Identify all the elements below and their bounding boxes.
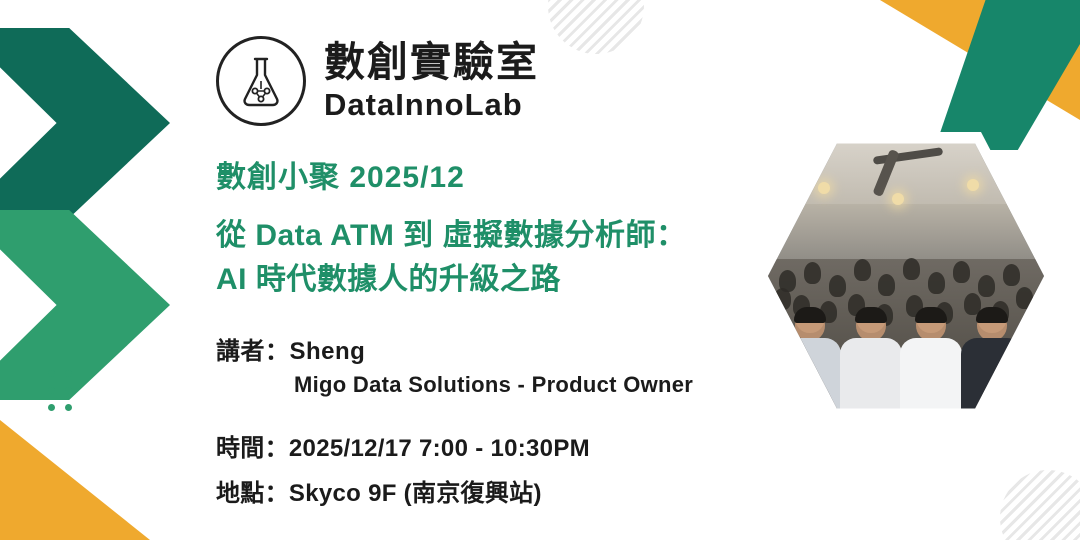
dot-grid-decoration xyxy=(48,370,74,412)
striped-circle-top xyxy=(548,0,644,54)
event-title-line2: AI 時代數據人的升級之路 xyxy=(216,258,816,302)
event-meta: 時間：2025/12/17 7:00 - 10:30PM 地點：Skyco 9F… xyxy=(216,428,816,508)
event-title-line1: 從 Data ATM 到 虛擬數據分析師： xyxy=(216,214,816,258)
brand-logo: 數創實驗室 DataInnoLab xyxy=(216,36,539,126)
pendant-lamp-icon xyxy=(818,182,830,194)
flask-icon xyxy=(216,36,306,126)
brand-text: 數創實驗室 DataInnoLab xyxy=(324,42,539,120)
event-series: 數創小聚 2025/12 xyxy=(216,152,816,196)
brand-name-en: DataInnoLab xyxy=(324,89,539,120)
person-figure xyxy=(900,309,962,414)
speaker-info: 講者：Sheng Migo Data Solutions - Product O… xyxy=(216,331,816,398)
event-details: 數創小聚 2025/12 從 Data ATM 到 虛擬數據分析師： AI 時代… xyxy=(216,152,816,518)
chevron-shape-green xyxy=(0,210,170,400)
chevron-shape-dark-green xyxy=(0,28,170,218)
event-time: 時間：2025/12/17 7:00 - 10:30PM xyxy=(216,428,816,463)
striped-circle-bottom-right xyxy=(1000,470,1080,540)
triangle-shape-orange-bottom-left xyxy=(0,420,150,540)
person-figure xyxy=(840,309,902,414)
event-poster: 數創實驗室 DataInnoLab 數創小聚 2025/12 從 Data AT… xyxy=(0,0,1080,540)
speaker-name: 講者：Sheng xyxy=(216,331,816,366)
speaker-organization: Migo Data Solutions - Product Owner xyxy=(294,372,816,398)
brand-name-cn: 數創實驗室 xyxy=(324,42,539,83)
event-location: 地點：Skyco 9F (南京復興站) xyxy=(216,473,816,508)
